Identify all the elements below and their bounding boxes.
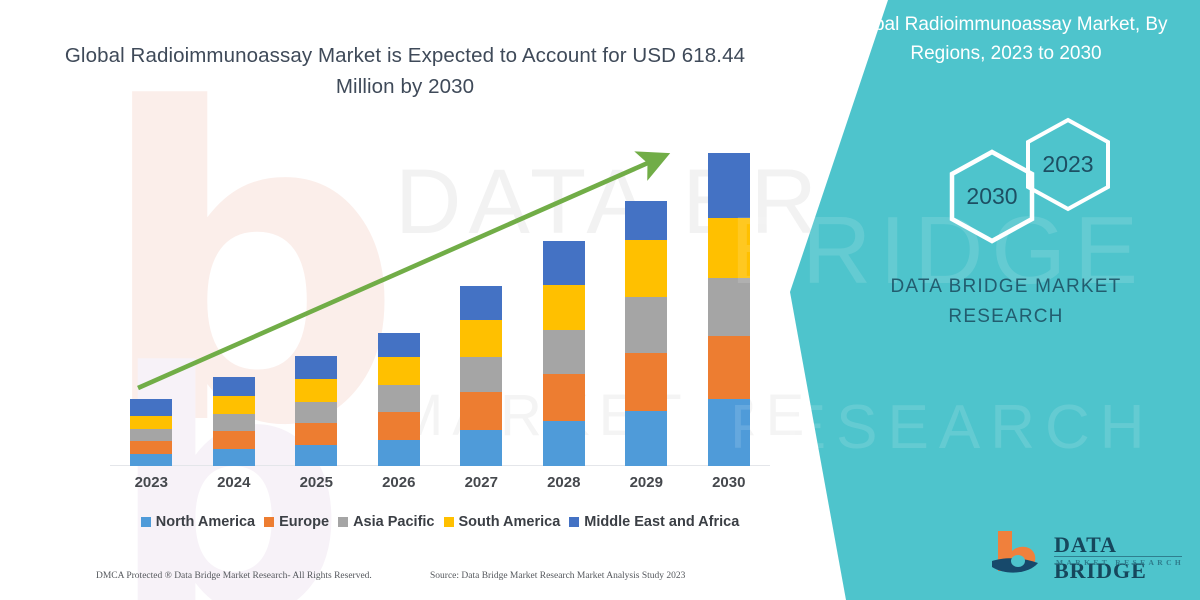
- bar-segment: [295, 379, 337, 402]
- legend-swatch-icon: [569, 517, 579, 527]
- logo-divider: [1054, 556, 1182, 557]
- bar-2027[interactable]: [460, 286, 502, 466]
- hexagon-2023-label: 2023: [1042, 151, 1093, 177]
- bar-segment: [625, 201, 667, 240]
- year-hexagons: 2023 2030: [920, 112, 1140, 257]
- x-axis-label-2029: 2029: [616, 474, 676, 491]
- legend-swatch-icon: [338, 517, 348, 527]
- legend-item-europe[interactable]: Europe: [264, 514, 329, 530]
- bar-segment: [295, 356, 337, 379]
- bar-2024[interactable]: [213, 377, 255, 466]
- panel-brand-name: DATA BRIDGE MARKET RESEARCH: [824, 272, 1188, 332]
- bar-segment: [625, 240, 667, 297]
- bar-segment: [130, 454, 172, 466]
- bar-segment: [460, 357, 502, 392]
- legend-swatch-icon: [264, 517, 274, 527]
- infographic-page: b b DATA BRIDGE MARKET RESEARCH Global R…: [0, 0, 1200, 600]
- bar-segment: [130, 429, 172, 441]
- logo-mark-icon: [988, 527, 1052, 583]
- footer-copyright: DMCA Protected ® Data Bridge Market Rese…: [96, 571, 372, 581]
- bar-segment: [295, 445, 337, 466]
- bar-segment: [213, 449, 255, 466]
- panel-content: BRIDGE RESEARCH Global Radioimmunoassay …: [800, 0, 1200, 600]
- bar-segment: [213, 377, 255, 396]
- panel-watermark-bottom: RESEARCH: [730, 392, 1155, 463]
- bar-segment: [460, 430, 502, 466]
- footer-source: Source: Data Bridge Market Research Mark…: [430, 571, 685, 581]
- legend-label: Europe: [279, 514, 329, 530]
- legend-item-south-america[interactable]: South America: [444, 514, 561, 530]
- legend-label: Asia Pacific: [353, 514, 434, 530]
- panel-title: Global Radioimmunoassay Market, By Regio…: [824, 10, 1188, 68]
- bar-2023[interactable]: [130, 399, 172, 466]
- x-axis-label-2026: 2026: [369, 474, 429, 491]
- bar-2029[interactable]: [625, 201, 667, 466]
- bar-segment: [213, 396, 255, 414]
- bar-segment: [543, 241, 585, 285]
- bar-2026[interactable]: [378, 333, 420, 466]
- bar-segment: [378, 440, 420, 466]
- chart-plot-area: [110, 140, 770, 466]
- bar-segment: [460, 392, 502, 430]
- bar-segment: [708, 336, 750, 399]
- panel-brand-line1: DATA BRIDGE MARKET: [891, 276, 1122, 297]
- x-axis-label-2030: 2030: [699, 474, 759, 491]
- bar-segment: [378, 333, 420, 357]
- bar-segment: [130, 416, 172, 429]
- legend-item-north-america[interactable]: North America: [141, 514, 255, 530]
- data-bridge-logo: DATA BRIDGE MARKET RESEARCH: [988, 527, 1188, 585]
- bar-segment: [625, 353, 667, 411]
- x-axis-label-2028: 2028: [534, 474, 594, 491]
- legend-label: South America: [459, 514, 561, 530]
- bar-segment: [625, 411, 667, 466]
- chart-title: Global Radioimmunoassay Market is Expect…: [60, 40, 750, 102]
- x-axis-labels: 20232024202520262027202820292030: [110, 474, 770, 500]
- bar-segment: [295, 402, 337, 423]
- bar-segment: [543, 421, 585, 466]
- bar-segment: [378, 357, 420, 385]
- x-axis-line: [110, 465, 770, 466]
- legend-label: Middle East and Africa: [584, 514, 739, 530]
- legend-item-asia-pacific[interactable]: Asia Pacific: [338, 514, 434, 530]
- bar-2025[interactable]: [295, 356, 337, 466]
- panel-brand-line2: RESEARCH: [948, 306, 1063, 327]
- bar-segment: [130, 399, 172, 416]
- bar-segment: [378, 412, 420, 440]
- x-axis-label-2024: 2024: [204, 474, 264, 491]
- legend-item-middle-east-and-africa[interactable]: Middle East and Africa: [569, 514, 739, 530]
- x-axis-label-2023: 2023: [121, 474, 181, 491]
- legend-swatch-icon: [444, 517, 454, 527]
- legend-label: North America: [156, 514, 255, 530]
- bar-segment: [543, 374, 585, 421]
- bar-segment: [625, 297, 667, 353]
- x-axis-label-2025: 2025: [286, 474, 346, 491]
- chart-legend: North AmericaEuropeAsia PacificSouth Ame…: [110, 511, 770, 533]
- hexagon-2030-label: 2030: [966, 183, 1017, 209]
- bar-segment: [460, 320, 502, 357]
- bar-segment: [213, 431, 255, 449]
- bar-segment: [213, 414, 255, 431]
- bar-segment: [543, 330, 585, 374]
- bar-segment: [543, 285, 585, 330]
- legend-swatch-icon: [141, 517, 151, 527]
- x-axis-label-2027: 2027: [451, 474, 511, 491]
- bar-segment: [460, 286, 502, 320]
- bar-2028[interactable]: [543, 241, 585, 466]
- logo-tagline: MARKET RESEARCH: [1056, 558, 1184, 567]
- bar-segment: [130, 441, 172, 454]
- bar-segment: [295, 423, 337, 445]
- bar-segment: [378, 385, 420, 412]
